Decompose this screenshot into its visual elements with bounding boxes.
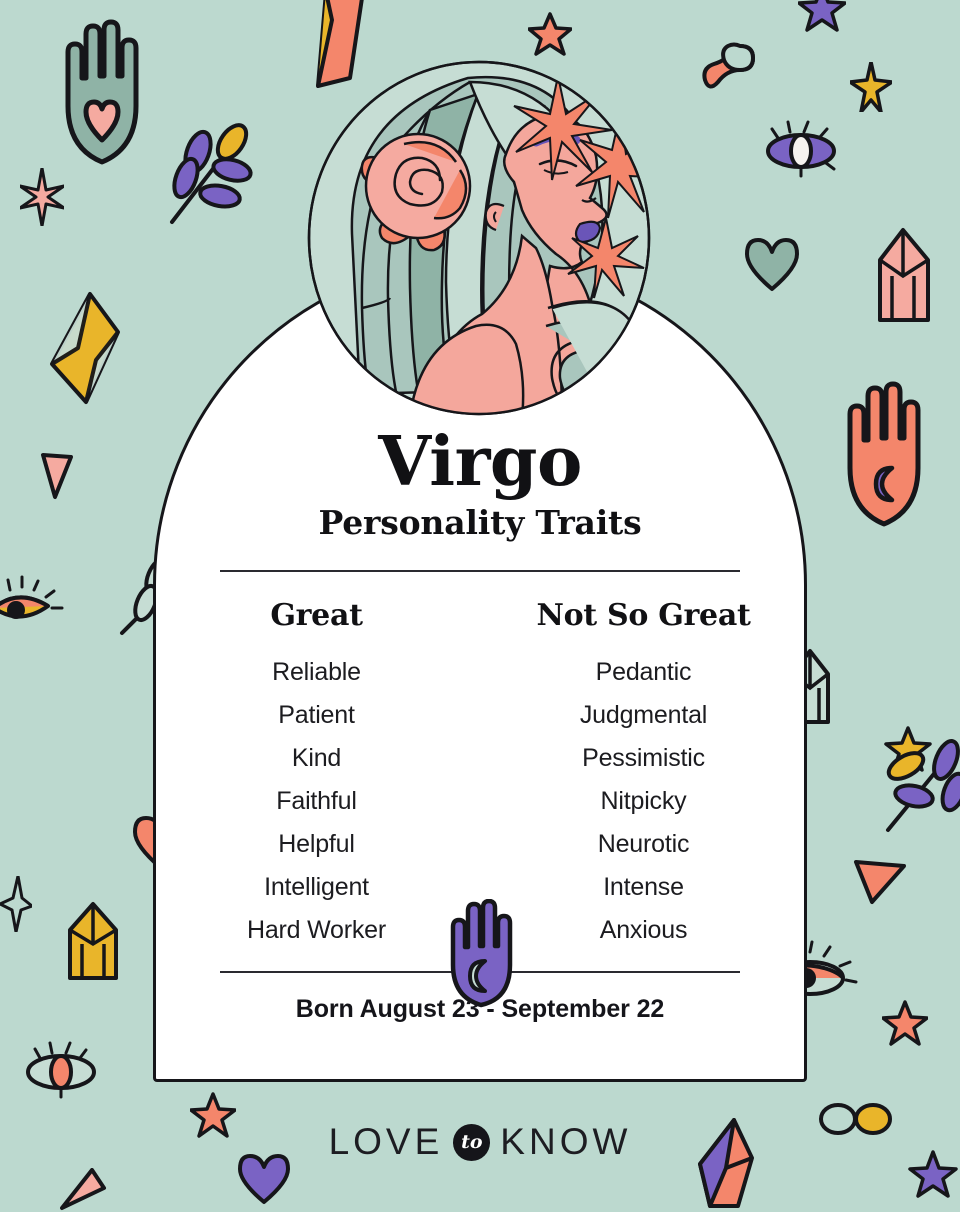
traits-column-not-so-great: Not So Great Pedantic Judgmental Pessimi… <box>480 598 807 952</box>
infinity-icon <box>700 36 758 94</box>
trait-item: Nitpicky <box>480 780 807 823</box>
brand-logo[interactable]: LOVE to KNOW <box>0 1112 960 1172</box>
page-title: Virgo <box>153 428 807 496</box>
logo-word-love: LOVE <box>329 1121 444 1163</box>
hand-moon-icon <box>437 899 523 1009</box>
title-block: Virgo Personality Traits <box>153 428 807 539</box>
sparkle-icon <box>0 876 32 932</box>
hand-moon-icon <box>830 380 935 532</box>
trait-item: Neurotic <box>480 823 807 866</box>
star-icon <box>884 726 932 772</box>
trait-item: Pedantic <box>480 651 807 694</box>
page-subtitle: Personality Traits <box>153 506 807 539</box>
trait-item: Hard Worker <box>153 909 480 952</box>
eye-icon <box>20 1040 102 1100</box>
eye-icon <box>0 570 78 632</box>
leaf-branch-icon <box>148 118 258 228</box>
logo-badge-to: to <box>453 1124 490 1161</box>
infographic-canvas: Virgo Personality Traits Great Reliable … <box>0 0 960 1200</box>
traits-column-great: Great Reliable Patient Kind Faithful Hel… <box>153 598 480 952</box>
column-heading-not-so-great: Not So Great <box>480 598 807 633</box>
trait-item: Anxious <box>480 909 807 952</box>
trait-item: Intense <box>480 866 807 909</box>
logo-to-text: to <box>461 1133 482 1152</box>
divider-top <box>220 570 740 572</box>
trait-item: Faithful <box>153 780 480 823</box>
star-icon <box>882 1000 928 1046</box>
trait-item: Kind <box>153 737 480 780</box>
crystal-icon <box>872 226 934 328</box>
logo-word-know: KNOW <box>500 1121 631 1163</box>
trait-item: Judgmental <box>480 694 807 737</box>
triangle-icon <box>40 452 74 500</box>
trait-item: Pessimistic <box>480 737 807 780</box>
crystal-icon <box>38 290 130 410</box>
trait-item: Intelligent <box>153 866 480 909</box>
crystal-icon <box>64 900 122 984</box>
trait-item: Reliable <box>153 651 480 694</box>
hand-heart-icon <box>48 18 153 173</box>
trait-item: Patient <box>153 694 480 737</box>
eye-icon <box>760 118 842 180</box>
column-heading-great: Great <box>153 598 480 633</box>
triangle-icon <box>58 1168 108 1212</box>
triangle-icon <box>852 858 908 906</box>
trait-item: Helpful <box>153 823 480 866</box>
six-point-star-icon <box>20 168 64 226</box>
star-icon <box>528 12 572 56</box>
star-icon <box>798 0 846 32</box>
leaf-branch-icon <box>880 730 960 838</box>
star-icon <box>850 62 892 112</box>
